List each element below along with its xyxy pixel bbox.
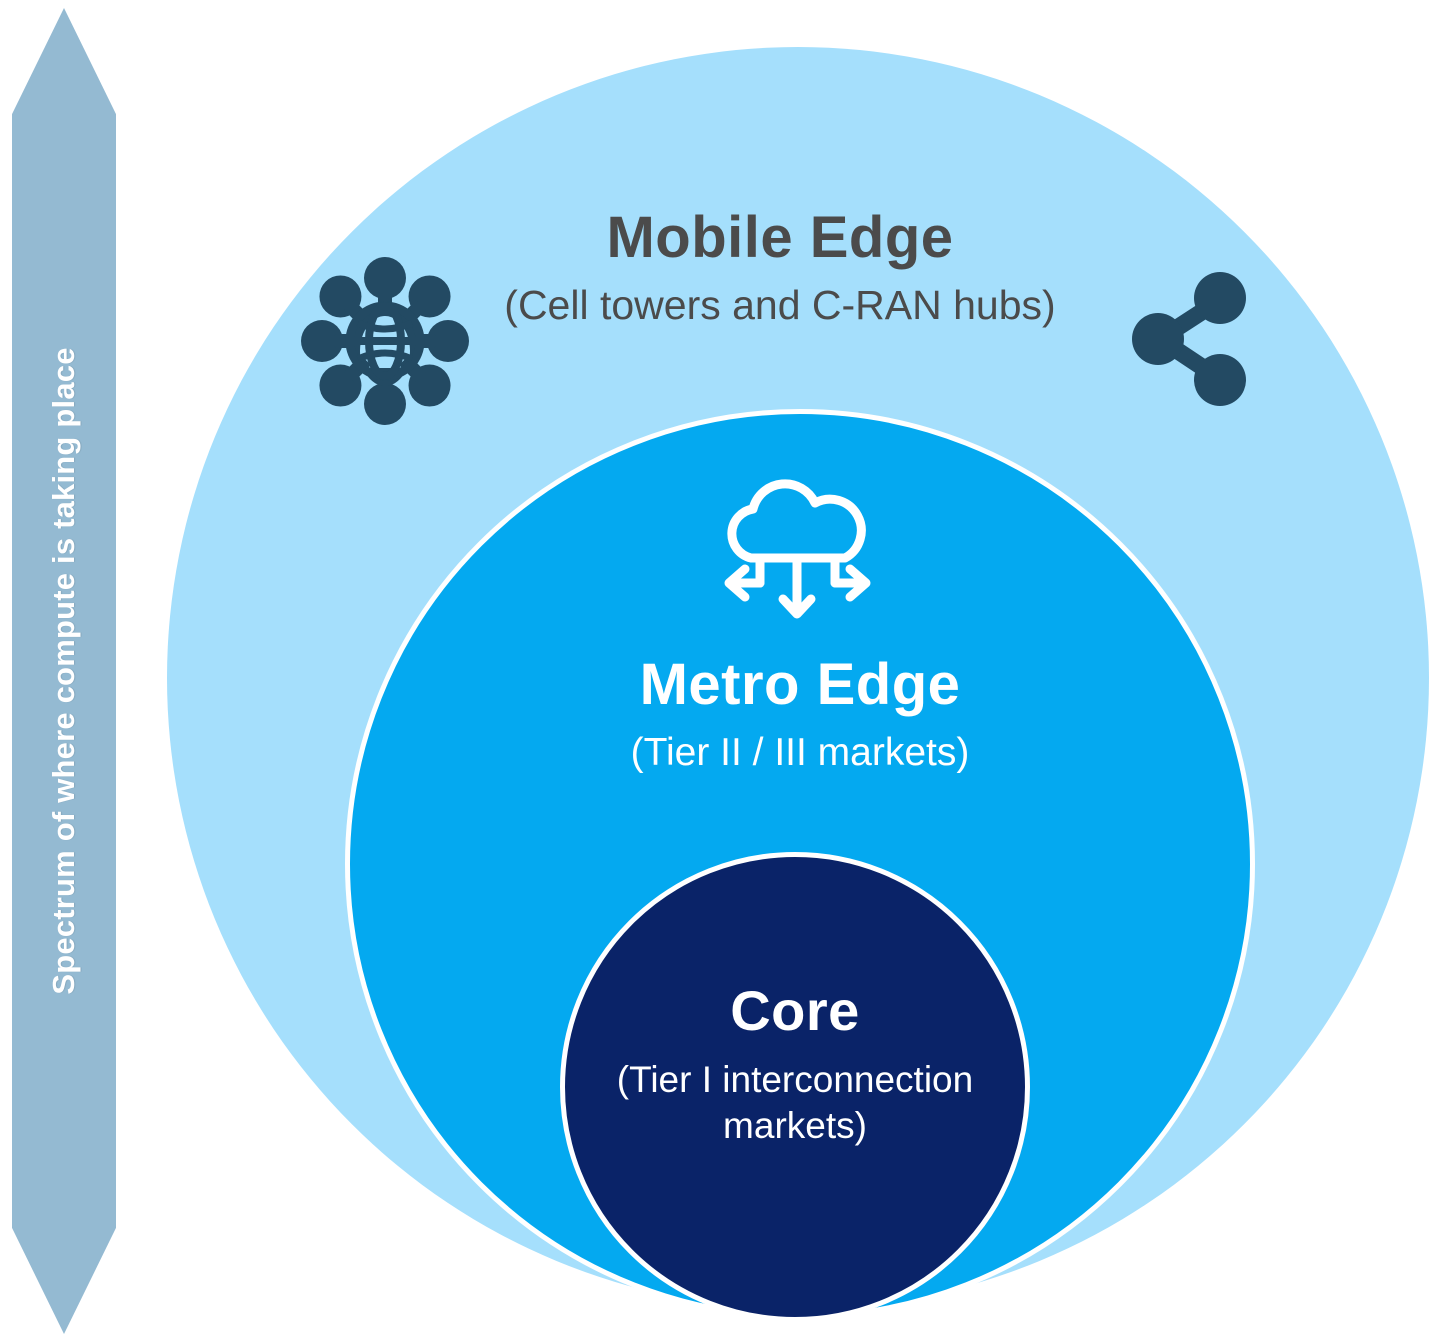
- metro-edge-label: Metro Edge (Tier II / III markets): [475, 653, 1125, 775]
- share-nodes-icon: [1132, 272, 1252, 407]
- edge-spectrum-diagram: Spectrum of where compute is taking plac…: [0, 0, 1440, 1340]
- core-label: Core (Tier I interconnection markets): [555, 980, 1035, 1149]
- cloud-distribute-icon: [705, 473, 890, 628]
- metro-edge-title: Metro Edge: [475, 653, 1125, 718]
- spectrum-arrow-label: Spectrum of where compute is taking plac…: [46, 347, 82, 994]
- mobile-edge-subtitle: (Cell towers and C-RAN hubs): [420, 283, 1140, 329]
- spectrum-arrow: Spectrum of where compute is taking plac…: [12, 8, 116, 1334]
- core-subtitle: (Tier I interconnection markets): [555, 1057, 1035, 1150]
- core-title: Core: [555, 980, 1035, 1043]
- mobile-edge-title: Mobile Edge: [420, 206, 1140, 271]
- metro-edge-subtitle: (Tier II / III markets): [475, 731, 1125, 775]
- mobile-edge-label: Mobile Edge (Cell towers and C-RAN hubs): [420, 206, 1140, 329]
